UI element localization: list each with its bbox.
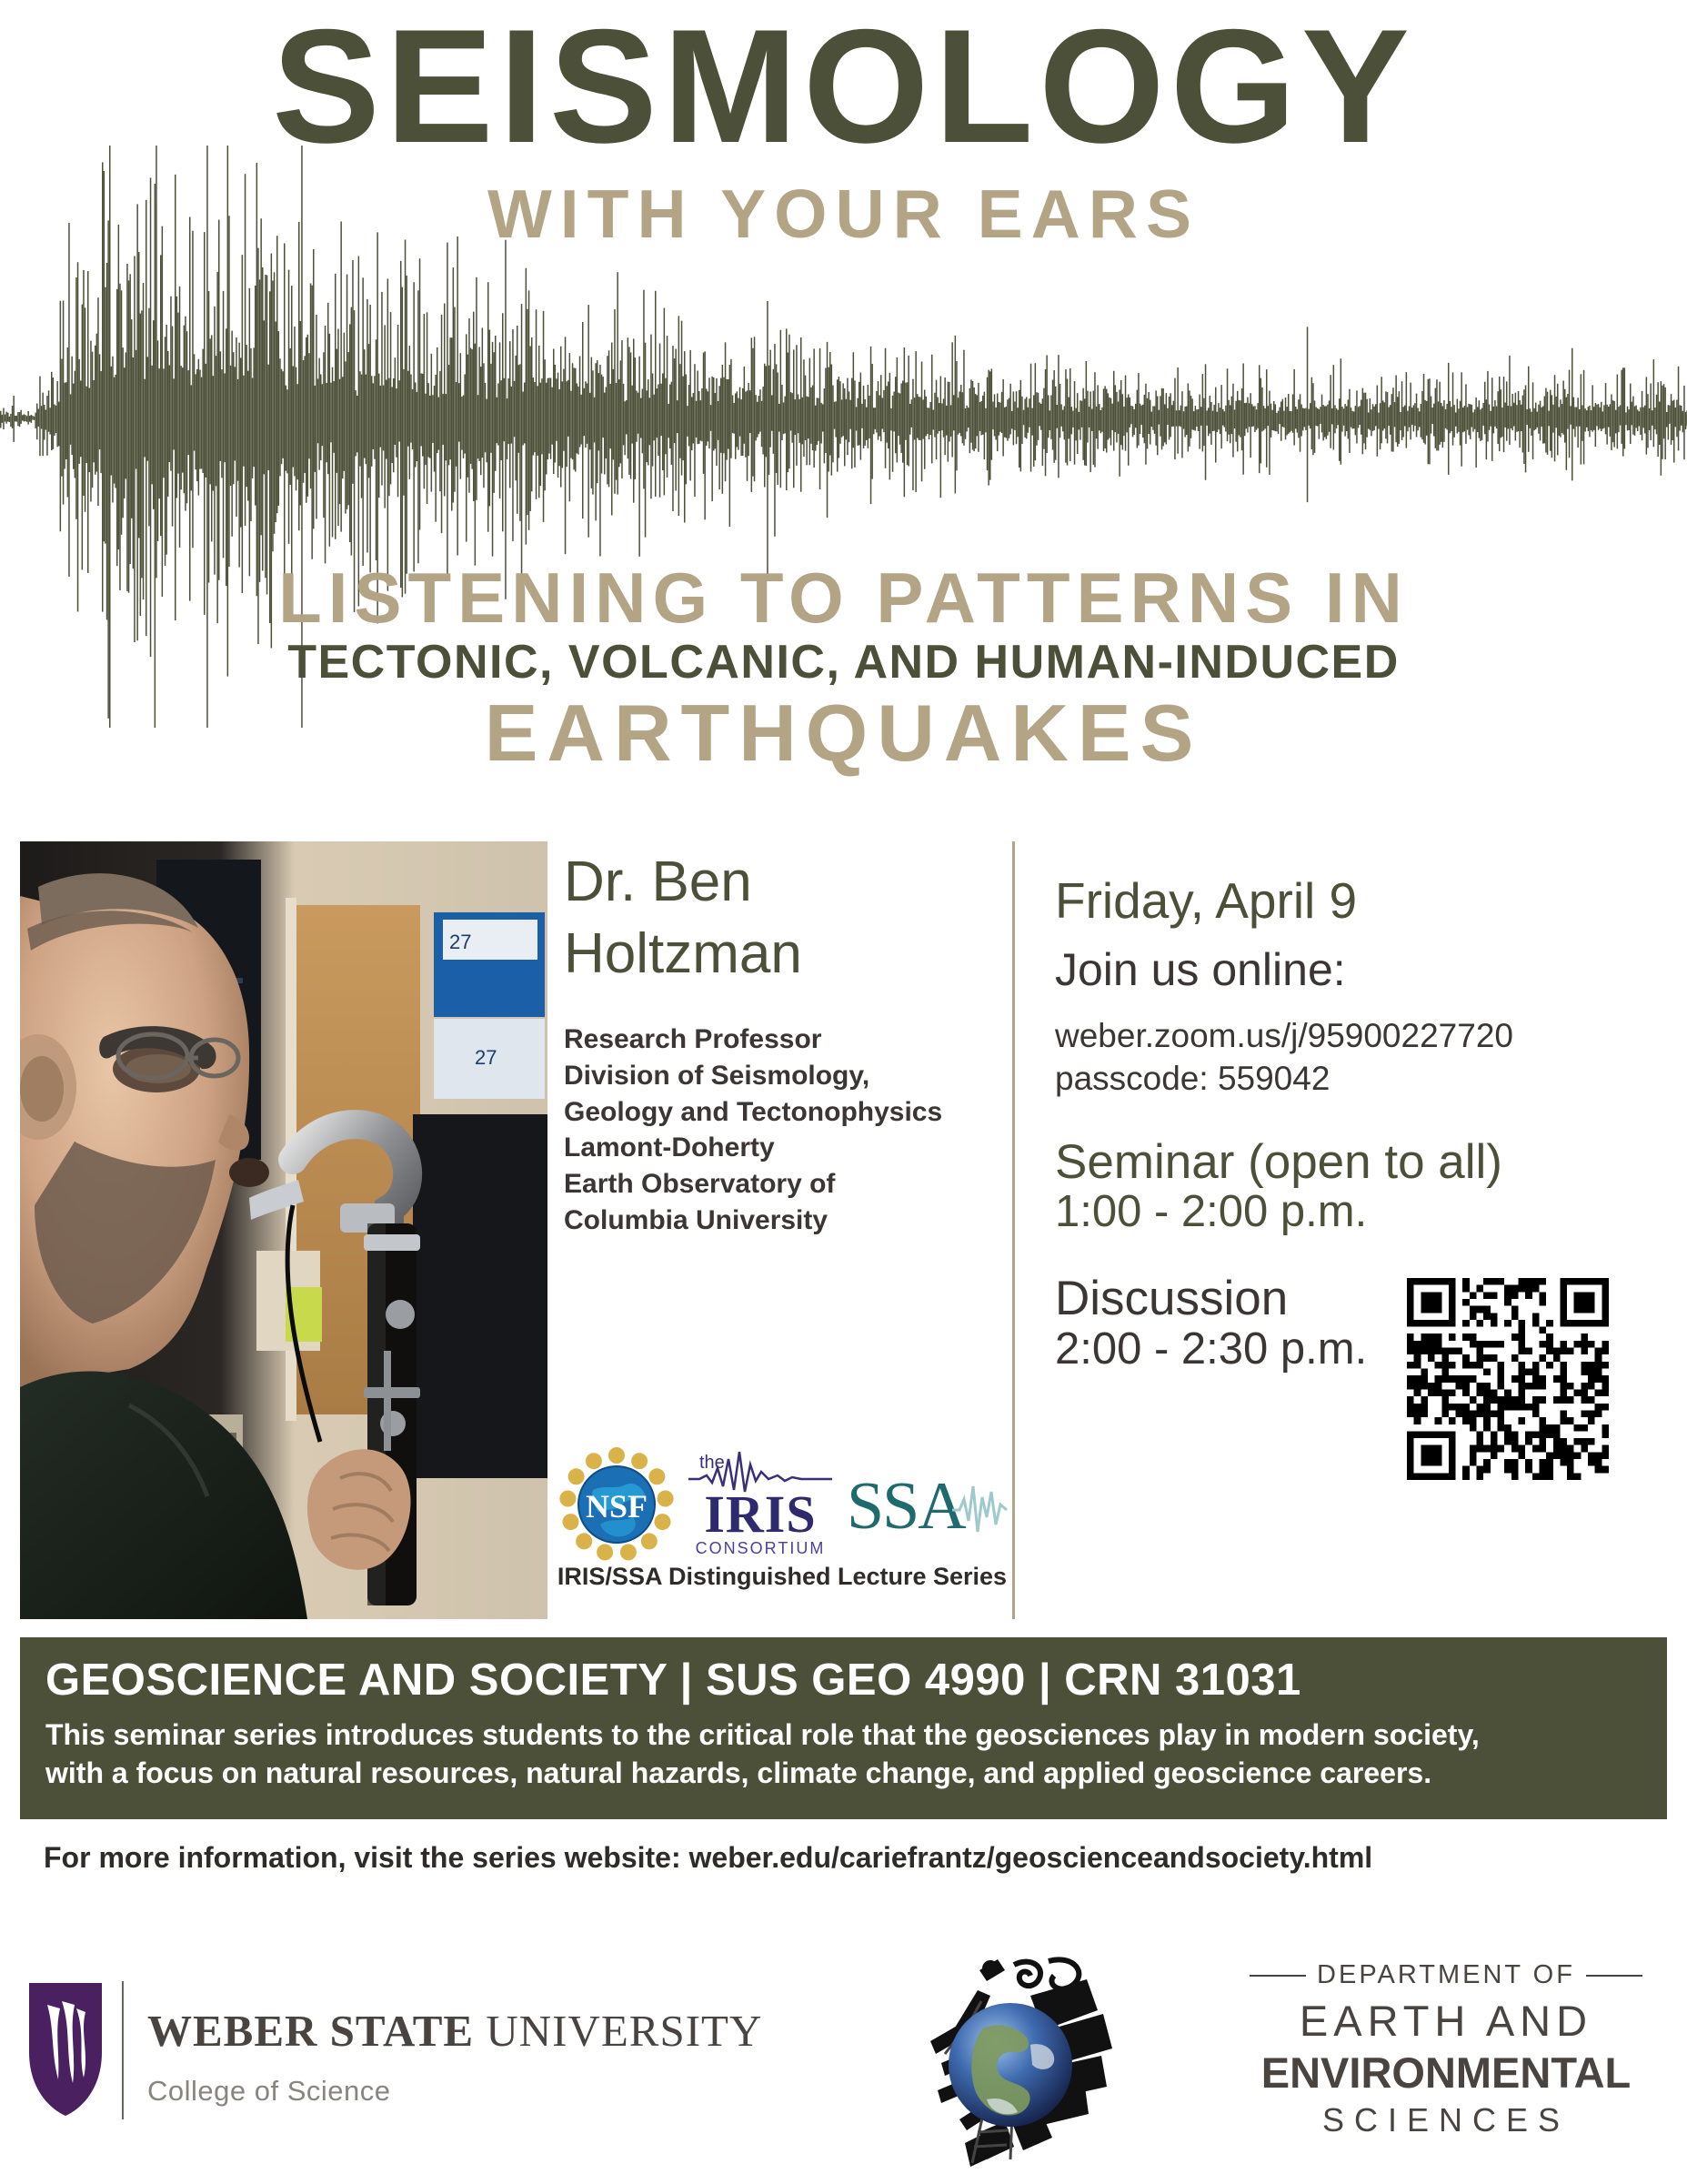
ssa-label: SSA: [847, 1469, 966, 1544]
affiliation-line: Geology and Tectonophysics: [564, 1094, 1005, 1131]
speaker-name-line-2: Holtzman: [564, 918, 1005, 990]
speaker-info: Dr. Ben Holtzman Research Professor Divi…: [564, 846, 1005, 1239]
event-date: Friday, April 9: [1055, 873, 1673, 929]
more-info-line[interactable]: For more information, visit the series w…: [44, 1841, 1672, 1875]
weber-state-logo: WEBER STATE UNIVERSITY College of Scienc…: [27, 1981, 762, 2119]
seminar-label: Seminar (open to all): [1055, 1136, 1673, 1188]
zoom-passcode: passcode: 559042: [1055, 1058, 1673, 1100]
iris-logo: the IRIS CONSORTIUM: [683, 1444, 838, 1569]
zoom-link[interactable]: weber.zoom.us/j/95900227720: [1055, 1015, 1673, 1057]
sponsor-logos-caption: IRIS/SSA Distinguished Lecture Series: [546, 1563, 1019, 1591]
speaker-affiliation: Research Professor Division of Seismolog…: [564, 1022, 1005, 1239]
page-subtitle: WITH YOUR EARS: [0, 180, 1687, 248]
iris-the-label: the: [699, 1453, 725, 1473]
join-online-label: Join us online:: [1055, 945, 1673, 995]
nsf-label: NSF: [586, 1488, 648, 1525]
iris-sub-label: CONSORTIUM: [695, 1539, 825, 1557]
tagline-line-3: EARTHQUAKES: [0, 693, 1687, 773]
svg-text:27: 27: [475, 1046, 497, 1069]
dept-of-label: DEPARTMENT OF: [1317, 1960, 1575, 1990]
dept-rule-left: [1250, 1975, 1306, 1977]
ssa-logo: SSA: [843, 1444, 1011, 1569]
course-description-line-1: This seminar series introduces students …: [45, 1716, 1642, 1755]
dept-line-3: SCIENCES: [1232, 2101, 1660, 2139]
seminar-time: 1:00 - 2:00 p.m.: [1055, 1188, 1673, 1236]
affiliation-line: Lamont-Doherty: [564, 1130, 1005, 1166]
wsu-college-label: College of Science: [147, 2075, 762, 2108]
affiliation-line: Columbia University: [564, 1203, 1005, 1239]
wsu-name-bold: WEBER STATE: [147, 2006, 474, 2056]
tagline-line-2: TECTONIC, VOLCANIC, AND HUMAN-INDUCED: [0, 639, 1687, 686]
sponsor-logos: NSF the IRIS CONSORTIUM SSA: [557, 1444, 1011, 1569]
course-banner: GEOSCIENCE AND SOCIETY | SUS GEO 4990 | …: [20, 1637, 1667, 1819]
nsf-logo: NSF: [557, 1444, 677, 1569]
affiliation-line: Research Professor: [564, 1022, 1005, 1058]
wsu-divider: [122, 1981, 124, 2119]
affiliation-line: Division of Seismology,: [564, 1058, 1005, 1094]
iris-label: IRIS: [704, 1485, 816, 1544]
course-title: GEOSCIENCE AND SOCIETY | SUS GEO 4990 | …: [45, 1657, 1642, 1704]
affiliation-line: Earth Observatory of: [564, 1166, 1005, 1203]
globe-industry-icon: [896, 1954, 1123, 2172]
speaker-name-line-1: Dr. Ben: [564, 846, 1005, 918]
svg-text:27: 27: [449, 931, 471, 953]
page-title: SEISMOLOGY: [0, 9, 1687, 163]
wsu-shield-icon: [27, 1981, 104, 2118]
dept-line-2: ENVIRONMENTAL: [1232, 2048, 1660, 2098]
course-description-line-2: with a focus on natural resources, natur…: [45, 1755, 1642, 1793]
dept-line-1: EARTH AND: [1232, 1996, 1660, 2046]
qr-code-icon[interactable]: [1407, 1278, 1609, 1480]
speaker-photo: 27 27: [20, 841, 547, 1619]
wsu-name-thin: UNIVERSITY: [486, 2006, 762, 2056]
tagline-line-1: LISTENING TO PATTERNS IN: [0, 562, 1687, 633]
column-divider: [1012, 841, 1015, 1619]
dept-rule-right: [1586, 1975, 1642, 1977]
department-logo: DEPARTMENT OF EARTH AND ENVIRONMENTAL SC…: [1232, 1960, 1660, 2139]
speaker-name: Dr. Ben Holtzman: [564, 846, 1005, 991]
